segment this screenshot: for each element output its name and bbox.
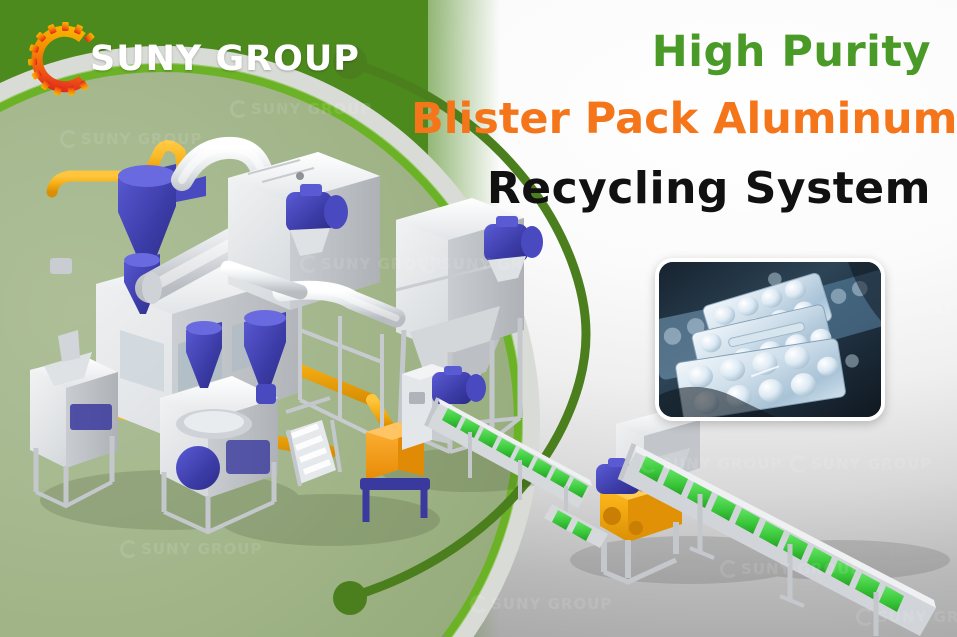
headline-line-1: High Purity <box>411 30 931 75</box>
headline-block: High Purity Blister Pack Aluminum Recycl… <box>411 18 931 212</box>
blister-pack-photo: LOT <box>655 258 885 421</box>
belt-conveyor-3 <box>544 504 608 548</box>
brand-name: SUNY GROUP <box>90 39 360 79</box>
promo-banner: SUNY GROUP SUNY GROUP SUNY GROUP SUNY GR… <box>0 0 957 637</box>
gear-c-icon <box>28 22 102 96</box>
access-stairs <box>286 398 340 486</box>
headline-line-2: Blister Pack Aluminum <box>411 97 931 142</box>
headline-line-3: Recycling System <box>411 166 931 212</box>
brand-logo[interactable]: SUNY GROUP <box>28 22 360 96</box>
